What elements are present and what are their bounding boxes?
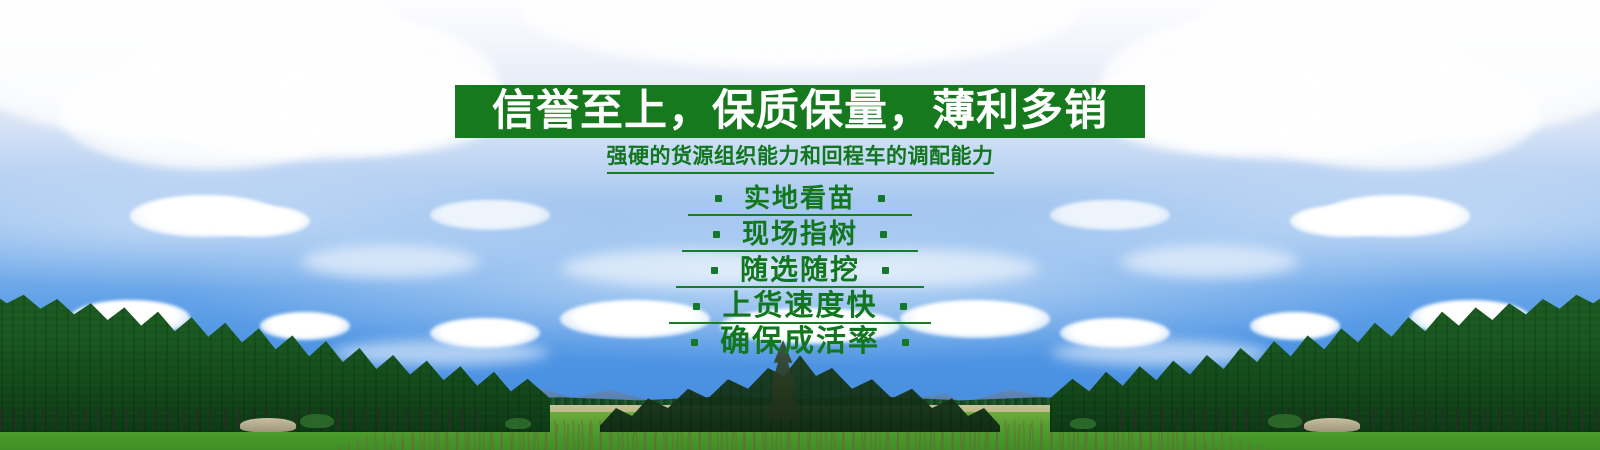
feature-label: 现场指树: [742, 221, 858, 248]
feature-label: 确保成活率: [720, 327, 880, 357]
bullet-dot-icon: [900, 303, 907, 310]
bullet-dot-icon: [880, 231, 887, 238]
subtitle-container: 强硬的货源组织能力和回程车的调配能力: [0, 145, 1600, 174]
bullet-dot-icon: [878, 195, 885, 202]
feature-label: 实地看苗: [744, 185, 856, 211]
promotional-banner: 信誉至上，保质保量，薄利多销 强硬的货源组织能力和回程车的调配能力 实地看苗 现…: [0, 0, 1600, 450]
feature-item: 确保成活率: [0, 324, 1600, 360]
feature-list: 实地看苗 现场指树 随选随挖 上货速度快: [0, 180, 1600, 360]
bullet-dot-icon: [691, 339, 698, 346]
headline-banner-bar: 信誉至上，保质保量，薄利多销: [455, 85, 1145, 138]
bullet-dot-icon: [715, 195, 722, 202]
headline-text: 信誉至上，保质保量，薄利多销: [492, 90, 1108, 133]
feature-item: 上货速度快: [0, 288, 1600, 324]
bullet-dot-icon: [902, 339, 909, 346]
feature-item: 随选随挖: [0, 252, 1600, 288]
feature-label: 上货速度快: [722, 292, 877, 321]
banner-content: 信誉至上，保质保量，薄利多销 强硬的货源组织能力和回程车的调配能力 实地看苗 现…: [0, 0, 1600, 450]
bullet-dot-icon: [693, 303, 700, 310]
bullet-dot-icon: [713, 231, 720, 238]
bullet-dot-icon: [711, 267, 718, 274]
feature-label: 随选随挖: [740, 256, 860, 284]
feature-item: 实地看苗: [0, 180, 1600, 216]
subtitle-text: 强硬的货源组织能力和回程车的调配能力: [607, 145, 994, 174]
bullet-dot-icon: [882, 267, 889, 274]
feature-item: 现场指树: [0, 216, 1600, 252]
